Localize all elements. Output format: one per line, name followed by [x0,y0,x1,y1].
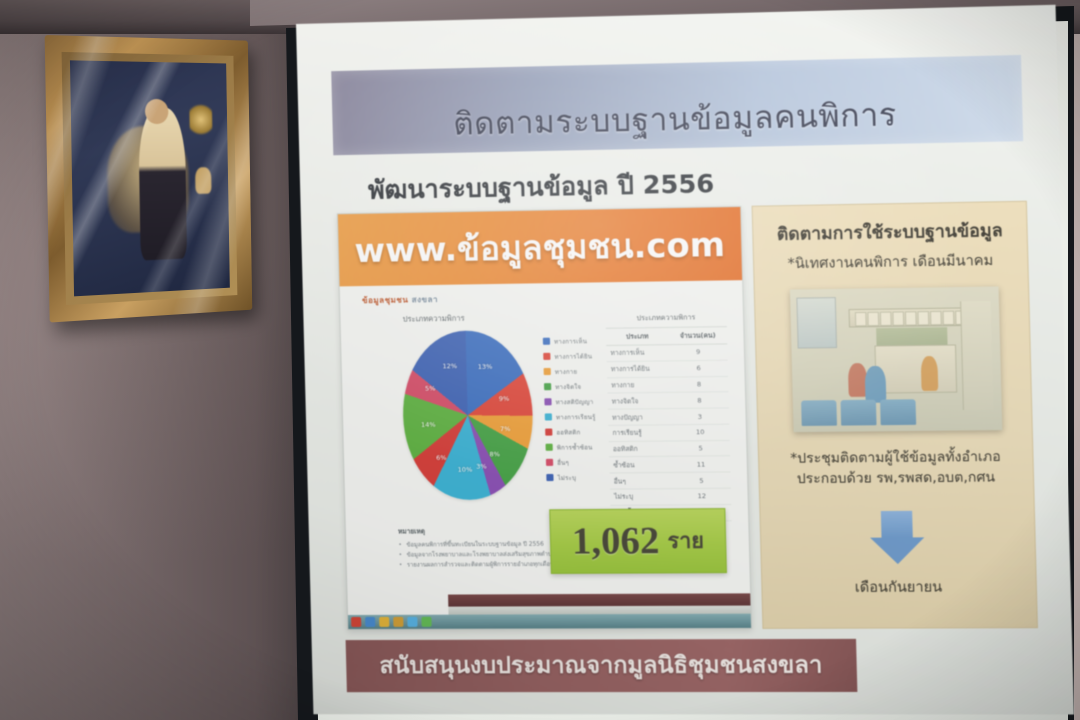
table-row: ทางกาย8 [607,376,728,393]
portrait-mat [62,52,238,305]
room-scene: ติดตามระบบฐานข้อมูลคนพิการ พัฒนาระบบฐานข… [0,0,1080,720]
table-row: ไม่ระบุ12 [610,488,731,505]
pie-chart [401,330,535,500]
pie-slice-label: 14% [421,420,436,428]
legend-swatch [546,459,553,466]
site-visit-photo [790,286,1002,432]
table-body: ทางการเห็น9ทางการได้ยิน6ทางกาย8ทางจิตใจ8… [606,344,732,521]
document-icon[interactable] [393,617,403,627]
pie-slice-label: 5% [425,384,436,392]
followup-heading: ติดตามการใช้ระบบฐานข้อมูล [753,216,1027,248]
legend-label: อื่นๆ [557,457,569,467]
data-table-block: ประเภทความพิการ ประเภทจำนวน(คน) ทางการเห… [605,309,731,522]
table-header-row: ประเภทจำนวน(คน) [606,327,727,345]
pie-slice-label: 13% [478,362,493,370]
table-cell: ออทิสติก [609,441,672,458]
legend-swatch [543,338,550,345]
app-icon[interactable] [421,617,431,627]
table-row: ทางปัญญา3 [608,408,729,425]
legend-item: ทางการเห็น [543,333,594,349]
table-col-header: ประเภท [606,328,669,346]
table-caption: ประเภทความพิการ [605,309,727,329]
legend-label: พิการซ้ำซ้อน [557,442,593,452]
royal-emblem-icon [189,101,212,137]
count-unit: ราย [667,524,704,558]
slide-title: ติดตามระบบฐานข้อมูลคนพิการ [332,86,1023,152]
browser-icon[interactable] [365,617,375,627]
legend-label: ทางจิตใจ [555,381,581,391]
legend-item: ทางสติปัญญา [544,394,595,410]
chart-title: ประเภทความพิการ [403,313,465,326]
table-cell: ทางการเห็น [606,345,669,362]
pie-slice-label: 9% [499,394,510,402]
site-url: www.ข้อมูลชุมชน.com [354,217,726,277]
table-cell: 5 [672,472,731,489]
browser-status-strip [448,593,750,606]
chart-legend: ทางการเห็นทางการได้ยินทางกายทางจิตใจทางส… [543,333,598,485]
table-cell: อื่นๆ [609,473,672,490]
table-cell: ทางกาย [607,377,670,394]
legend-swatch [546,474,553,481]
pie-slice-label: 6% [436,454,447,462]
legend-swatch [545,413,552,420]
pie-slice-label: 12% [442,362,457,370]
table-cell: 8 [670,392,729,409]
pie-slice-label: 7% [500,425,511,433]
presentation-slide: ติดตามระบบฐานข้อมูลคนพิการ พัฒนาระบบฐานข… [296,5,1074,715]
site-logo-text: ข้อมูลชุมชน [362,295,409,305]
table-cell: ทางปัญญา [608,409,671,426]
followup-note-2-line1: *ประชุมติดตามผู้ใช้ข้อมูลทั้งอำเภอ [765,446,1026,469]
followup-panel: ติดตามการใช้ระบบฐานข้อมูล *นิเทศงานคนพิก… [752,201,1038,629]
legend-label: ทางการเรียนรู้ [556,411,596,422]
count-number: 1,062 [571,519,660,564]
table-row: ทางการได้ยิน6 [607,360,728,377]
website-screenshot-panel: www.ข้อมูลชุมชน.com ข้อมูลชุมชน สงขลา ปร… [337,206,752,630]
table-cell: ซ้ำซ้อน [609,457,672,474]
table-row: ซ้ำซ้อน11 [609,456,730,473]
site-logo: ข้อมูลชุมชน สงขลา [362,293,438,307]
portrait-figure [138,108,187,260]
legend-swatch [546,444,553,451]
folder-icon[interactable] [379,617,389,627]
url-banner: www.ข้อมูลชุมชน.com [338,207,742,286]
windows-taskbar[interactable] [348,614,751,629]
media-icon[interactable] [407,617,417,627]
pie-slice-labels: 13%9%7%8%3%10%6%14%5%12% [354,311,607,315]
legend-item: ออทิสติก [545,424,596,440]
sponsor-banner-text: สนับสนุนงบประมาณจากมูลนิธิชุมชนสงขลา [379,647,823,684]
legend-swatch [544,368,551,375]
portrait-head [144,99,168,124]
followup-note-2: *ประชุมติดตามผู้ใช้ข้อมูลทั้งอำเภอ ประกอ… [765,446,1027,490]
site-logo-sub: สงขลา [412,295,439,304]
data-table: ประเภทจำนวน(คน) ทางการเห็น9ทางการได้ยิน6… [606,327,732,521]
table-row: การเรียนรู้10 [608,424,729,441]
table-cell: 11 [672,456,731,473]
table-cell: ทางการได้ยิน [607,361,670,378]
royal-portrait-frame [45,35,253,323]
photo-projection-haze [790,286,1002,432]
table-cell: 9 [669,344,728,361]
legend-item: ไม่ระบุ [546,470,597,486]
pie-slice-label: 10% [458,465,473,473]
table-col-header: จำนวน(คน) [668,327,727,345]
table-cell: 12 [672,488,731,504]
table-cell: 10 [671,424,730,441]
followup-note-2-line2: ประกอบด้วย รพ,รพสด,อบต,กศน [766,467,1027,490]
pie-slice-label: 3% [476,462,487,470]
legend-label: ทางสติปัญญา [556,396,594,407]
table-cell: 3 [670,408,729,425]
pie-slice-label: 8% [489,450,500,458]
legend-label: ไม่ระบุ [557,472,576,482]
legend-label: ออทิสติก [556,427,580,437]
table-cell: การเรียนรู้ [608,425,671,442]
start-icon[interactable] [351,617,361,627]
projected-slide-wrapper: ติดตามระบบฐานข้อมูลคนพิการ พัฒนาระบบฐานข… [296,5,1074,720]
count-badge: 1,062 ราย [549,508,727,574]
legend-item: ทางจิตใจ [544,379,595,395]
legend-item: ทางการได้ยิน [543,348,594,364]
down-arrow-icon [869,511,925,565]
table-row: ทางการเห็น9 [606,344,727,362]
followup-note-1: *นิเทศงานคนพิการ เดือนมีนาคม [762,249,1019,276]
table-cell: 5 [671,440,730,457]
table-cell: 8 [670,376,729,393]
table-cell: 6 [669,360,728,377]
legend-item: ทางการเรียนรู้ [545,409,596,425]
table-cell: ไม่ระบุ [610,489,673,505]
legend-swatch [543,353,550,360]
pie-chart-area: ประเภทความพิการ 13%9%7%8%3%10%6%14%5%12%… [354,311,612,520]
table-row: อื่นๆ5 [609,472,730,489]
legend-item: พิการซ้ำซ้อน [545,439,596,455]
legend-label: ทางกาย [555,366,578,376]
portrait-image [70,60,230,296]
legend-item: ทางกาย [543,363,594,379]
legend-item: อื่นๆ [546,454,597,470]
arrow-label: เดือนกันยายน [762,576,1036,600]
sponsor-banner: สนับสนุนงบประมาณจากมูลนิธิชุมชนสงขลา [346,639,858,692]
legend-swatch [545,429,552,436]
legend-swatch [544,398,551,405]
portrait-urn [195,167,212,194]
table-row: ทางจิตใจ8 [607,392,728,409]
legend-label: ทางการเห็น [554,336,587,347]
table-cell: ทางจิตใจ [607,393,670,410]
slide-title-bar: ติดตามระบบฐานข้อมูลคนพิการ [331,55,1023,155]
table-row: ออทิสติก5 [609,440,730,457]
slide-subtitle: พัฒนาระบบฐานข้อมูล ปี 2556 [348,163,735,211]
legend-swatch [544,383,551,390]
legend-label: ทางการได้ยิน [554,351,592,362]
